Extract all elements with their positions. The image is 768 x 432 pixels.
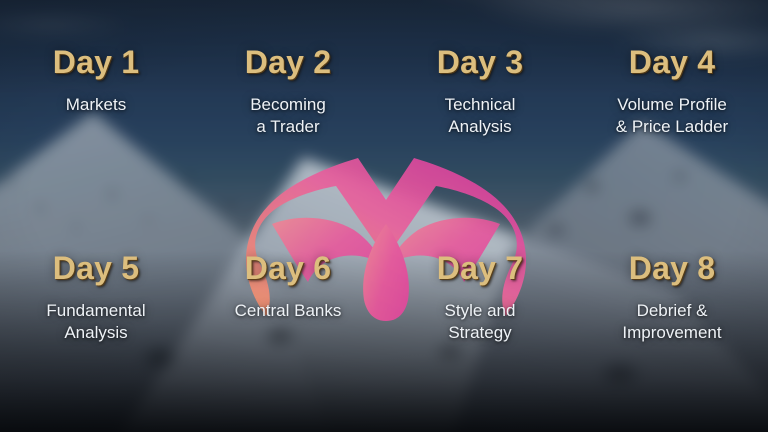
- day-cell-8[interactable]: Day 8 Debrief & Improvement: [576, 216, 768, 345]
- day-grid: Day 1 Markets Day 2 Becoming a Trader Da…: [0, 0, 768, 432]
- day-description: Becoming a Trader: [198, 94, 378, 139]
- day-cell-1[interactable]: Day 1 Markets: [0, 0, 192, 116]
- day-title: Day 2: [198, 46, 378, 78]
- slide-root: Day 1 Markets Day 2 Becoming a Trader Da…: [0, 0, 768, 432]
- day-cell-5[interactable]: Day 5 Fundamental Analysis: [0, 216, 192, 345]
- day-cell-6[interactable]: Day 6 Central Banks: [192, 216, 384, 322]
- day-description: Style and Strategy: [390, 300, 570, 345]
- day-description: Markets: [6, 94, 186, 116]
- day-title: Day 1: [6, 46, 186, 78]
- day-description: Central Banks: [198, 300, 378, 322]
- day-title: Day 5: [6, 252, 186, 284]
- day-title: Day 3: [390, 46, 570, 78]
- day-title: Day 8: [582, 252, 762, 284]
- day-cell-7[interactable]: Day 7 Style and Strategy: [384, 216, 576, 345]
- day-title: Day 7: [390, 252, 570, 284]
- day-cell-4[interactable]: Day 4 Volume Profile & Price Ladder: [576, 0, 768, 139]
- day-description: Technical Analysis: [390, 94, 570, 139]
- day-description: Volume Profile & Price Ladder: [582, 94, 762, 139]
- day-cell-3[interactable]: Day 3 Technical Analysis: [384, 0, 576, 139]
- day-title: Day 4: [582, 46, 762, 78]
- day-title: Day 6: [198, 252, 378, 284]
- day-description: Debrief & Improvement: [582, 300, 762, 345]
- day-cell-2[interactable]: Day 2 Becoming a Trader: [192, 0, 384, 139]
- day-description: Fundamental Analysis: [6, 300, 186, 345]
